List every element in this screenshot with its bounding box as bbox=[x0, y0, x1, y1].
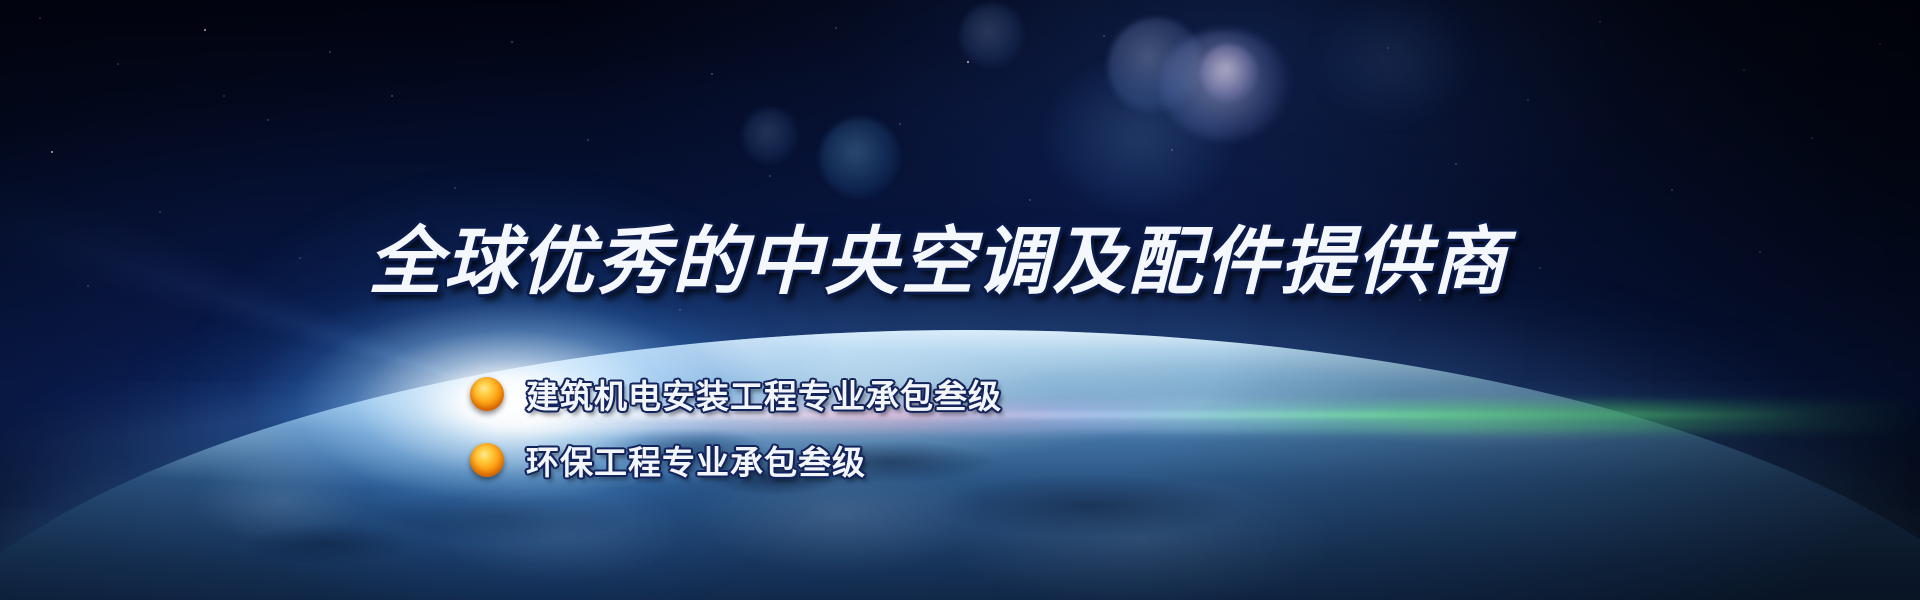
hero-banner: 全球优秀的中央空调及配件提供商 建筑机电安装工程专业承包叁级 环保工程专业承包叁… bbox=[0, 0, 1920, 600]
page-title: 全球优秀的中央空调及配件提供商 bbox=[368, 202, 1508, 309]
orange-bullet-icon bbox=[470, 443, 504, 477]
feature-list: 建筑机电安装工程专业承包叁级 环保工程专业承包叁级 bbox=[470, 372, 1002, 482]
list-item-label: 建筑机电安装工程专业承包叁级 bbox=[526, 370, 1002, 418]
banner-content: 全球优秀的中央空调及配件提供商 建筑机电安装工程专业承包叁级 环保工程专业承包叁… bbox=[0, 0, 1920, 600]
list-item: 环保工程专业承包叁级 bbox=[470, 438, 1002, 482]
list-item-label: 环保工程专业承包叁级 bbox=[526, 436, 866, 484]
list-item: 建筑机电安装工程专业承包叁级 bbox=[470, 372, 1002, 416]
orange-bullet-icon bbox=[470, 377, 504, 411]
